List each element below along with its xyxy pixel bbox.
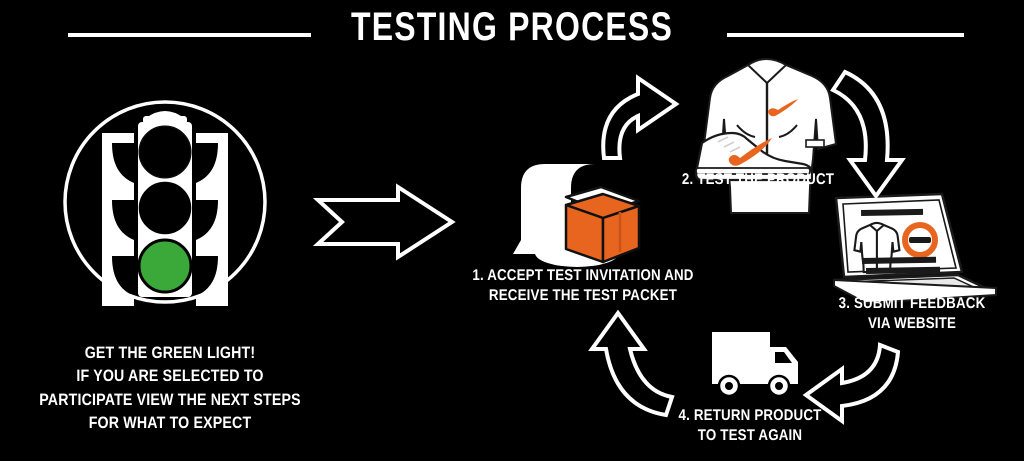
right-arrow-icon — [318, 187, 452, 257]
mailbox-with-package-icon — [513, 164, 639, 267]
traffic-lamp-middle — [140, 183, 190, 233]
laptop-website-icon — [834, 194, 996, 303]
step-1-caption: 1. ACCEPT TEST INVITATION AND RECEIVE TH… — [470, 266, 695, 306]
delivery-truck-icon — [712, 332, 798, 396]
curved-arrow-down-right-icon — [833, 72, 902, 196]
step-4-caption: 4. RETURN PRODUCT TO TEST AGAIN — [668, 406, 831, 446]
step-2-caption: 2. TEST THE PRODUCT — [675, 170, 840, 190]
curved-arrow-up-right-icon — [603, 78, 676, 158]
traffic-lamp-bottom — [139, 240, 191, 292]
step-3-caption: 3. SUBMIT FEEDBACK VIA WEBSITE — [826, 294, 998, 334]
jacket-and-sneaker-icon — [696, 59, 836, 213]
traffic-light-icon — [65, 102, 265, 306]
infographic-canvas: TESTING PROCESS — [0, 0, 1024, 461]
curved-arrow-up-left-icon — [592, 313, 672, 415]
intro-caption: GET THE GREEN LIGHT! IF YOU ARE SELECTED… — [24, 342, 316, 436]
